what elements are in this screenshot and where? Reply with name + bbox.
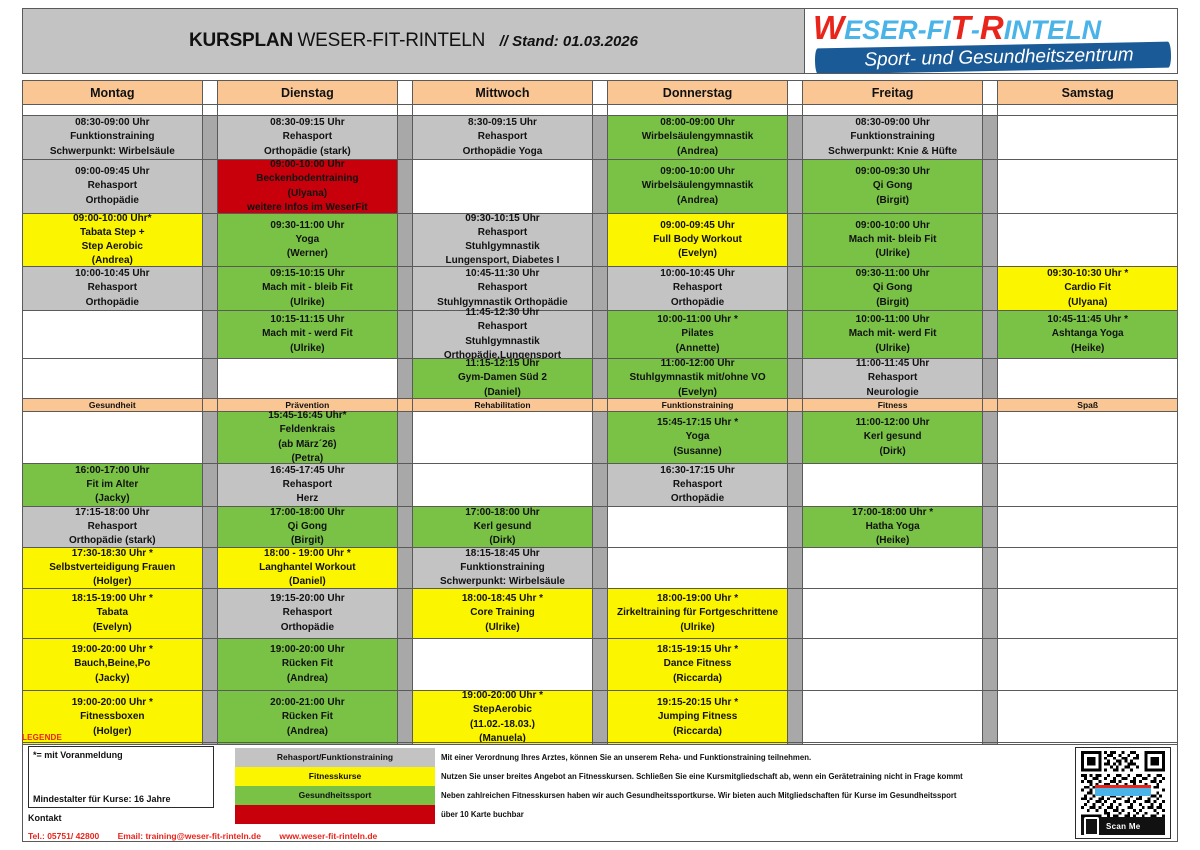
course-name: Rehasport bbox=[220, 130, 395, 144]
course-time: 16:45-17:45 Uhr bbox=[220, 464, 395, 478]
day-header-freitag: Freitag bbox=[803, 81, 983, 105]
course-name: Ashtanga Yoga bbox=[1000, 327, 1175, 341]
column-separator bbox=[203, 105, 219, 116]
spacer-cell bbox=[413, 105, 593, 116]
column-separator bbox=[398, 160, 413, 214]
course-name: Tabata Step + bbox=[25, 226, 200, 240]
course-cell-empty bbox=[218, 359, 398, 399]
course-cell[interactable]: 08:30-09:00 UhrFunktionstrainingSchwerpu… bbox=[23, 116, 203, 160]
spacer-cell bbox=[608, 105, 788, 116]
course-time: 11:00-11:45 Uhr bbox=[805, 357, 980, 371]
course-cell-empty bbox=[998, 160, 1178, 214]
column-separator bbox=[788, 81, 804, 105]
course-cell[interactable]: 10:00-11:00 UhrMach mit- werd Fit(Ulrike… bbox=[803, 311, 983, 359]
course-instructor: (Ulrike) bbox=[805, 342, 980, 356]
course-cell[interactable]: 09:00-10:00 UhrBeckenbodentraining(Ulyan… bbox=[218, 160, 398, 214]
course-instructor: (Susanne) bbox=[610, 445, 785, 459]
title-kursplan: KURSPLAN bbox=[189, 30, 293, 51]
course-name: Rehasport bbox=[415, 226, 590, 240]
course-time: 09:00-09:45 Uhr bbox=[25, 165, 200, 179]
column-separator bbox=[593, 214, 608, 267]
course-name: Cardio Fit bbox=[1000, 281, 1175, 295]
course-name: Rücken Fit bbox=[220, 710, 395, 724]
course-instructor: (Annette) bbox=[610, 342, 785, 356]
schedule-row: 09:00-09:45 UhrRehasportOrthopädie09:00-… bbox=[23, 160, 1178, 214]
course-cell-empty bbox=[413, 412, 593, 464]
course-instructor: (Birgit) bbox=[805, 296, 980, 310]
legend-descriptions: Mit einer Verordnung Ihres Arztes, könne… bbox=[435, 748, 1075, 824]
title-stand-date: // Stand: 01.03.2026 bbox=[500, 33, 638, 50]
course-name: Gym-Damen Süd 2 bbox=[415, 371, 590, 385]
column-separator bbox=[593, 464, 608, 507]
course-cell[interactable]: 18:00-18:45 Uhr *Core Training(Ulrike) bbox=[413, 589, 593, 639]
course-name: Orthopädie bbox=[610, 296, 785, 310]
course-name: Selbstverteidigung Frauen bbox=[25, 561, 200, 575]
course-name: Neurologie bbox=[805, 386, 980, 400]
course-name: Rehasport bbox=[220, 478, 395, 492]
course-time: 18:00 - 19:00 Uhr * bbox=[220, 547, 395, 561]
course-cell[interactable]: 16:00-17:00 UhrFit im Alter(Jacky) bbox=[23, 464, 203, 507]
course-time: 18:00-18:45 Uhr * bbox=[415, 592, 590, 606]
course-instructor: (Dirk) bbox=[805, 445, 980, 459]
course-cell-empty bbox=[803, 589, 983, 639]
column-separator bbox=[203, 267, 218, 311]
column-separator bbox=[788, 214, 803, 267]
column-separator bbox=[788, 507, 803, 548]
course-instructor: (Holger) bbox=[25, 575, 200, 589]
course-instructor: (Heike) bbox=[1000, 342, 1175, 356]
column-separator bbox=[788, 359, 803, 399]
course-time: 19:00-20:00 Uhr * bbox=[25, 643, 200, 657]
course-cell-empty bbox=[998, 359, 1178, 399]
kursplan-page: KURSPLAN WESER-FIT-RINTELN // Stand: 01.… bbox=[0, 0, 1200, 850]
course-cell[interactable]: 19:00-20:00 UhrRücken Fit(Andrea) bbox=[218, 639, 398, 691]
course-name: Rehasport bbox=[25, 281, 200, 295]
course-time: 19:00-20:00 Uhr bbox=[220, 643, 395, 657]
course-cell-empty bbox=[803, 691, 983, 745]
column-separator bbox=[788, 267, 803, 311]
course-time: 09:30-10:30 Uhr * bbox=[1000, 267, 1175, 281]
course-cell[interactable]: 15:45-16:45 Uhr*Feldenkrais(ab März´26)(… bbox=[218, 412, 398, 464]
course-cell-empty bbox=[998, 639, 1178, 691]
legend-key-rehasport: Rehasport/Funktionstraining bbox=[235, 748, 435, 767]
column-separator bbox=[593, 412, 608, 464]
course-cell[interactable]: 18:15-19:15 Uhr *Dance Fitness(Riccarda) bbox=[608, 639, 788, 691]
course-name: Orthopädie (stark) bbox=[220, 145, 395, 159]
course-name: Tabata bbox=[25, 606, 200, 620]
course-cell[interactable]: 09:00-09:45 UhrRehasportOrthopädie bbox=[23, 160, 203, 214]
qr-code-icon: Scan Me bbox=[1081, 751, 1165, 835]
course-name: Schwerpunkt: Wirbelsäule bbox=[415, 575, 590, 589]
course-cell-empty bbox=[608, 507, 788, 548]
column-separator bbox=[983, 507, 998, 548]
course-name: Funktionstraining bbox=[805, 130, 980, 144]
contact-phone[interactable]: Tel.: 05751/ 42800 bbox=[28, 831, 99, 841]
day-header-row: MontagDienstagMittwochDonnerstagFreitagS… bbox=[23, 81, 1178, 105]
course-name: Qi Gong bbox=[805, 281, 980, 295]
column-separator bbox=[983, 399, 999, 412]
category-label: Spaß bbox=[998, 399, 1178, 412]
legend-panel: *= mit Voranmeldung Mindestalter für Kur… bbox=[22, 742, 1178, 842]
course-time: 8:30-09:15 Uhr bbox=[415, 116, 590, 130]
column-separator bbox=[983, 412, 998, 464]
column-separator bbox=[398, 464, 413, 507]
course-name: Orthopädie bbox=[25, 194, 200, 208]
legend-left-block: *= mit Voranmeldung Mindestalter für Kur… bbox=[23, 743, 219, 843]
course-cell[interactable]: 20:00-21:00 UhrRücken Fit(Andrea) bbox=[218, 691, 398, 745]
course-cell[interactable]: 18:15-19:00 Uhr *Tabata(Evelyn) bbox=[23, 589, 203, 639]
course-cell[interactable]: 17:15-18:00 UhrRehasportOrthopädie (star… bbox=[23, 507, 203, 548]
course-name: Beckenbodentraining bbox=[220, 172, 395, 186]
phone-icon bbox=[1084, 817, 1099, 836]
course-name: Rehasport bbox=[805, 371, 980, 385]
course-cell[interactable]: 10:00-11:00 Uhr *Pilates(Annette) bbox=[608, 311, 788, 359]
column-separator bbox=[983, 359, 998, 399]
course-cell-empty bbox=[998, 116, 1178, 160]
course-cell-empty bbox=[998, 507, 1178, 548]
course-time: 08:00-09:00 Uhr bbox=[610, 116, 785, 130]
course-name: Hatha Yoga bbox=[805, 520, 980, 534]
course-cell[interactable]: 10:45-11:45 Uhr *Ashtanga Yoga(Heike) bbox=[998, 311, 1178, 359]
schedule-row: 11:15-12:15 UhrGym-Damen Süd 2(Daniel)11… bbox=[23, 359, 1178, 399]
qr-scan-caption: Scan Me bbox=[1106, 822, 1141, 831]
column-separator bbox=[788, 589, 803, 639]
course-cell[interactable]: 08:30-09:00 UhrFunktionstrainingSchwerpu… bbox=[803, 116, 983, 160]
course-cell[interactable]: 09:00-10:00 UhrWirbelsäulengymnastik(And… bbox=[608, 160, 788, 214]
column-separator bbox=[203, 464, 218, 507]
column-separator bbox=[983, 548, 998, 589]
course-time: 08:30-09:00 Uhr bbox=[25, 116, 200, 130]
course-cell[interactable]: 09:00-09:45 UhrFull Body Workout(Evelyn) bbox=[608, 214, 788, 267]
spacer-cell bbox=[218, 105, 398, 116]
course-cell[interactable]: 8:30-09:15 UhrRehasportOrthopädie Yoga bbox=[413, 116, 593, 160]
course-name: Rehasport bbox=[220, 606, 395, 620]
course-name: Schwerpunkt: Wirbelsäule bbox=[25, 145, 200, 159]
course-cell[interactable]: 18:00 - 19:00 Uhr *Langhantel Workout(Da… bbox=[218, 548, 398, 589]
course-cell[interactable]: 11:00-12:00 UhrStuhlgymnastik mit/ohne V… bbox=[608, 359, 788, 399]
course-instructor: (Andrea) bbox=[610, 194, 785, 208]
course-name: Step Aerobic bbox=[25, 240, 200, 254]
legend-key-gesundheit: Gesundheitssport bbox=[235, 786, 435, 805]
column-separator bbox=[593, 311, 608, 359]
schedule-grid: MontagDienstagMittwochDonnerstagFreitagS… bbox=[22, 80, 1178, 745]
course-name: Mach mit - werd Fit bbox=[220, 327, 395, 341]
course-instructor: (Heike) bbox=[805, 534, 980, 548]
course-name: Pilates bbox=[610, 327, 785, 341]
course-time: 15:45-17:15 Uhr * bbox=[610, 416, 785, 430]
column-separator bbox=[593, 105, 609, 116]
column-separator bbox=[398, 639, 413, 691]
column-separator bbox=[398, 267, 413, 311]
course-time: 11:00-12:00 Uhr bbox=[610, 357, 785, 371]
course-cell[interactable]: 15:45-17:15 Uhr *Yoga(Susanne) bbox=[608, 412, 788, 464]
schedule-row: 08:30-09:00 UhrFunktionstrainingSchwerpu… bbox=[23, 116, 1178, 160]
course-instructor: (Andrea) bbox=[220, 725, 395, 739]
course-name: Yoga bbox=[220, 233, 395, 247]
course-time: 08:30-09:15 Uhr bbox=[220, 116, 395, 130]
course-cell[interactable]: 19:00-20:00 Uhr *Bauch,Beine,Po(Jacky) bbox=[23, 639, 203, 691]
legend-note-minimum-age: Mindestalter für Kurse: 16 Jahre bbox=[33, 794, 171, 804]
course-cell[interactable]: 09:00-10:00 UhrMach mit- bleib Fit(Ulrik… bbox=[803, 214, 983, 267]
course-time: 10:15-11:15 Uhr bbox=[220, 313, 395, 327]
course-time: 08:30-09:00 Uhr bbox=[805, 116, 980, 130]
column-separator bbox=[398, 359, 413, 399]
column-separator bbox=[983, 589, 998, 639]
course-instructor: (Riccarda) bbox=[610, 725, 785, 739]
course-cell[interactable]: 17:30-18:30 Uhr *Selbstverteidigung Frau… bbox=[23, 548, 203, 589]
column-separator bbox=[398, 548, 413, 589]
course-name: Dance Fitness bbox=[610, 657, 785, 671]
course-cell[interactable]: 10:00-10:45 UhrRehasportOrthopädie bbox=[608, 267, 788, 311]
course-name: Wirbelsäulengymnastik bbox=[610, 179, 785, 193]
qr-code-block[interactable]: Scan Me bbox=[1075, 747, 1171, 839]
course-cell[interactable]: 11:15-12:15 UhrGym-Damen Süd 2(Daniel) bbox=[413, 359, 593, 399]
column-separator bbox=[593, 359, 608, 399]
course-cell[interactable]: 18:15-18:45 UhrFunktionstrainingSchwerpu… bbox=[413, 548, 593, 589]
column-separator bbox=[983, 160, 998, 214]
logo-subtitle-text: Sport- und Gesundheitszentrum bbox=[827, 41, 1171, 73]
title-club-name: WESER-FIT-RINTELN bbox=[297, 30, 485, 51]
course-instructor: (Daniel) bbox=[220, 575, 395, 589]
course-cell-empty bbox=[998, 589, 1178, 639]
column-separator bbox=[398, 311, 413, 359]
course-time: 09:00-10:00 Uhr bbox=[805, 219, 980, 233]
course-time: 11:45-12:30 Uhr bbox=[415, 306, 590, 320]
course-cell[interactable]: 09:00-10:00 Uhr*Tabata Step +Step Aerobi… bbox=[23, 214, 203, 267]
course-cell[interactable]: 11:00-11:45 UhrRehasportNeurologie bbox=[803, 359, 983, 399]
course-cell[interactable]: 16:30-17:15 UhrRehasportOrthopädie bbox=[608, 464, 788, 507]
course-cell[interactable]: 10:15-11:15 UhrMach mit - werd Fit(Ulrik… bbox=[218, 311, 398, 359]
column-separator bbox=[593, 691, 608, 745]
course-cell-empty bbox=[998, 214, 1178, 267]
course-name: Orthopädie Yoga bbox=[415, 145, 590, 159]
course-name: Mach mit- werd Fit bbox=[805, 327, 980, 341]
column-separator bbox=[398, 81, 414, 105]
column-separator bbox=[203, 589, 218, 639]
course-time: 09:30-11:00 Uhr bbox=[805, 267, 980, 281]
course-cell[interactable]: 08:30-09:15 UhrRehasportOrthopädie (star… bbox=[218, 116, 398, 160]
course-name: Orthopädie bbox=[25, 296, 200, 310]
column-separator bbox=[398, 691, 413, 745]
course-time: 19:15-20:15 Uhr * bbox=[610, 696, 785, 710]
column-separator bbox=[593, 116, 608, 160]
column-separator bbox=[788, 639, 803, 691]
course-instructor: (Andrea) bbox=[610, 145, 785, 159]
spacer-cell bbox=[803, 105, 983, 116]
column-separator bbox=[203, 691, 218, 745]
brand-logo: WESER-FIT-RINTELN Sport- und Gesundheits… bbox=[805, 9, 1177, 73]
course-cell[interactable]: 19:15-20:00 UhrRehasportOrthopädie bbox=[218, 589, 398, 639]
course-cell-empty bbox=[998, 464, 1178, 507]
course-cell-empty bbox=[23, 311, 203, 359]
course-instructor: (Jacky) bbox=[25, 672, 200, 686]
column-separator bbox=[593, 267, 608, 311]
course-cell[interactable]: 11:00-12:00 UhrKerl gesund(Dirk) bbox=[803, 412, 983, 464]
course-instructor: (Ulrike) bbox=[610, 621, 785, 635]
course-name: Rehasport bbox=[415, 281, 590, 295]
day-header-samstag: Samstag bbox=[998, 81, 1178, 105]
course-cell[interactable]: 17:00-18:00 UhrKerl gesund(Dirk) bbox=[413, 507, 593, 548]
course-name: Zirkeltraining für Fortgeschrittene bbox=[610, 606, 785, 620]
course-cell[interactable]: 09:30-11:00 UhrYoga(Werner) bbox=[218, 214, 398, 267]
course-cell[interactable]: 10:00-10:45 UhrRehasportOrthopädie bbox=[23, 267, 203, 311]
course-cell[interactable]: 09:30-10:30 Uhr *Cardio Fit(Ulyana) bbox=[998, 267, 1178, 311]
course-time: 10:45-11:45 Uhr * bbox=[1000, 313, 1175, 327]
course-name: Rehasport bbox=[415, 320, 590, 334]
legend-color-keys: Rehasport/FunktionstrainingFitnesskurseG… bbox=[235, 748, 435, 824]
column-separator bbox=[593, 507, 608, 548]
course-time: 17:30-18:30 Uhr * bbox=[25, 547, 200, 561]
course-time: 09:30-10:15 Uhr bbox=[415, 212, 590, 226]
course-time: 10:45-11:30 Uhr bbox=[415, 267, 590, 281]
course-name: Rücken Fit bbox=[220, 657, 395, 671]
legend-key-zusatz: Zusatzkurse bbox=[235, 805, 435, 824]
schedule-row: 17:30-18:30 Uhr *Selbstverteidigung Frau… bbox=[23, 548, 1178, 589]
course-name: Stuhlgymnastik bbox=[415, 240, 590, 254]
course-time: 19:00-20:00 Uhr * bbox=[415, 689, 590, 703]
course-cell[interactable]: 19:15-20:15 Uhr *Jumping Fitness(Riccard… bbox=[608, 691, 788, 745]
column-separator bbox=[398, 116, 413, 160]
course-instructor: (Evelyn) bbox=[25, 621, 200, 635]
column-separator bbox=[983, 639, 998, 691]
course-cell-empty bbox=[803, 548, 983, 589]
category-label: Fitness bbox=[803, 399, 983, 412]
contact-website[interactable]: www.weser-fit-rinteln.de bbox=[279, 831, 377, 841]
course-cell[interactable]: 18:00-19:00 Uhr *Zirkeltraining für Fort… bbox=[608, 589, 788, 639]
schedule-row: 10:00-10:45 UhrRehasportOrthopädie09:15-… bbox=[23, 267, 1178, 311]
column-separator bbox=[593, 589, 608, 639]
course-cell[interactable]: 19:00-20:00 Uhr *StepAerobic(11.02.-18.0… bbox=[413, 691, 593, 745]
course-name: (11.02.-18.03.) bbox=[415, 718, 590, 732]
course-name: Orthopädie bbox=[220, 621, 395, 635]
spacer-row bbox=[23, 105, 1178, 116]
course-time: 19:00-20:00 Uhr * bbox=[25, 696, 200, 710]
course-cell-empty bbox=[413, 464, 593, 507]
course-cell[interactable]: 17:00-18:00 UhrQi Gong(Birgit) bbox=[218, 507, 398, 548]
course-name: Feldenkrais bbox=[220, 423, 395, 437]
course-time: 10:00-11:00 Uhr bbox=[805, 313, 980, 327]
course-time: 11:15-12:15 Uhr bbox=[415, 357, 590, 371]
course-cell-empty bbox=[608, 548, 788, 589]
course-cell[interactable]: 17:00-18:00 Uhr *Hatha Yoga(Heike) bbox=[803, 507, 983, 548]
course-name: Schwerpunkt: Knie & Hüfte bbox=[805, 145, 980, 159]
course-instructor: (Ulyana) bbox=[1000, 296, 1175, 310]
column-separator bbox=[203, 116, 218, 160]
course-cell[interactable]: 09:30-11:00 UhrQi Gong(Birgit) bbox=[803, 267, 983, 311]
course-time: 15:45-16:45 Uhr* bbox=[220, 409, 395, 423]
course-name: Herz bbox=[220, 492, 395, 506]
legend-label: LEGENDE bbox=[22, 733, 62, 742]
course-time: 16:30-17:15 Uhr bbox=[610, 464, 785, 478]
column-separator bbox=[788, 160, 803, 214]
column-separator bbox=[788, 548, 803, 589]
course-name: Kerl gesund bbox=[415, 520, 590, 534]
course-name: Yoga bbox=[610, 430, 785, 444]
course-cell[interactable]: 16:45-17:45 UhrRehasportHerz bbox=[218, 464, 398, 507]
qr-scan-bar: Scan Me bbox=[1081, 817, 1165, 835]
column-separator bbox=[983, 311, 998, 359]
course-time: 10:00-10:45 Uhr bbox=[610, 267, 785, 281]
column-separator bbox=[593, 548, 608, 589]
column-separator bbox=[788, 105, 804, 116]
course-cell[interactable]: 11:45-12:30 UhrRehasportStuhlgymnastikOr… bbox=[413, 311, 593, 359]
schedule-row: 15:45-16:45 Uhr*Feldenkrais(ab März´26)(… bbox=[23, 412, 1178, 464]
course-cell[interactable]: 09:30-10:15 UhrRehasportStuhlgymnastikLu… bbox=[413, 214, 593, 267]
course-name: Fitnessboxen bbox=[25, 710, 200, 724]
logo-wordmark: WESER-FIT-RINTELN bbox=[813, 10, 1173, 46]
column-separator bbox=[983, 81, 999, 105]
course-instructor: (Daniel) bbox=[415, 386, 590, 400]
column-separator bbox=[203, 507, 218, 548]
legend-key-fitness: Fitnesskurse bbox=[235, 767, 435, 786]
course-cell[interactable]: 09:15-10:15 UhrMach mit - bleib Fit(Ulri… bbox=[218, 267, 398, 311]
course-cell-empty bbox=[998, 548, 1178, 589]
course-name: Qi Gong bbox=[805, 179, 980, 193]
course-time: 19:15-20:00 Uhr bbox=[220, 592, 395, 606]
course-name: Rehasport bbox=[415, 130, 590, 144]
column-separator bbox=[398, 412, 413, 464]
course-time: 20:00-21:00 Uhr bbox=[220, 696, 395, 710]
course-time: 17:00-18:00 Uhr * bbox=[805, 506, 980, 520]
day-header-mittwoch: Mittwoch bbox=[413, 81, 593, 105]
course-time: 17:00-18:00 Uhr bbox=[415, 506, 590, 520]
schedule-row: 10:15-11:15 UhrMach mit - werd Fit(Ulrik… bbox=[23, 311, 1178, 359]
course-name: Rehasport bbox=[25, 520, 200, 534]
course-name: Qi Gong bbox=[220, 520, 395, 534]
course-time: 16:00-17:00 Uhr bbox=[25, 464, 200, 478]
course-time: 10:00-11:00 Uhr * bbox=[610, 313, 785, 327]
column-separator bbox=[788, 311, 803, 359]
schedule-row: 16:00-17:00 UhrFit im Alter(Jacky)16:45-… bbox=[23, 464, 1178, 507]
column-separator bbox=[398, 105, 414, 116]
column-separator bbox=[593, 160, 608, 214]
course-name: Full Body Workout bbox=[610, 233, 785, 247]
course-time: 09:00-09:45 Uhr bbox=[610, 219, 785, 233]
logo-text-eser: ESER-FI bbox=[844, 15, 951, 45]
column-separator bbox=[983, 105, 999, 116]
column-separator bbox=[203, 81, 219, 105]
column-separator bbox=[593, 399, 609, 412]
column-separator bbox=[203, 399, 219, 412]
course-cell-empty bbox=[413, 160, 593, 214]
column-separator bbox=[788, 412, 803, 464]
course-cell[interactable]: 09:00-09:30 UhrQi Gong(Birgit) bbox=[803, 160, 983, 214]
course-instructor: (Ulrike) bbox=[805, 247, 980, 261]
schedule-row: 09:00-10:00 Uhr*Tabata Step +Step Aerobi… bbox=[23, 214, 1178, 267]
course-time: 18:00-19:00 Uhr * bbox=[610, 592, 785, 606]
course-time: 17:00-18:00 Uhr bbox=[220, 506, 395, 520]
course-name: Funktionstraining bbox=[25, 130, 200, 144]
course-time: 11:00-12:00 Uhr bbox=[805, 416, 980, 430]
legend-desc-fitness: Nutzen Sie unser breites Angebot an Fitn… bbox=[435, 767, 1075, 786]
course-instructor: (Andrea) bbox=[220, 672, 395, 686]
column-separator bbox=[983, 267, 998, 311]
page-header: KURSPLAN WESER-FIT-RINTELN // Stand: 01.… bbox=[22, 8, 1178, 74]
course-cell[interactable]: 10:45-11:30 UhrRehasportStuhlgymnastik O… bbox=[413, 267, 593, 311]
course-name: Mach mit- bleib Fit bbox=[805, 233, 980, 247]
course-name: Rehasport bbox=[610, 281, 785, 295]
column-separator bbox=[983, 214, 998, 267]
contact-email[interactable]: Email: training@weser-fit-rinteln.de bbox=[118, 831, 261, 841]
course-instructor: (Werner) bbox=[220, 247, 395, 261]
column-separator bbox=[788, 691, 803, 745]
column-separator bbox=[203, 639, 218, 691]
course-name: Mach mit - bleib Fit bbox=[220, 281, 395, 295]
spacer-cell bbox=[998, 105, 1178, 116]
course-cell[interactable]: 08:00-09:00 UhrWirbelsäulengymnastik(And… bbox=[608, 116, 788, 160]
logo-dash: - bbox=[971, 15, 980, 45]
course-instructor: (Ulrike) bbox=[220, 296, 395, 310]
